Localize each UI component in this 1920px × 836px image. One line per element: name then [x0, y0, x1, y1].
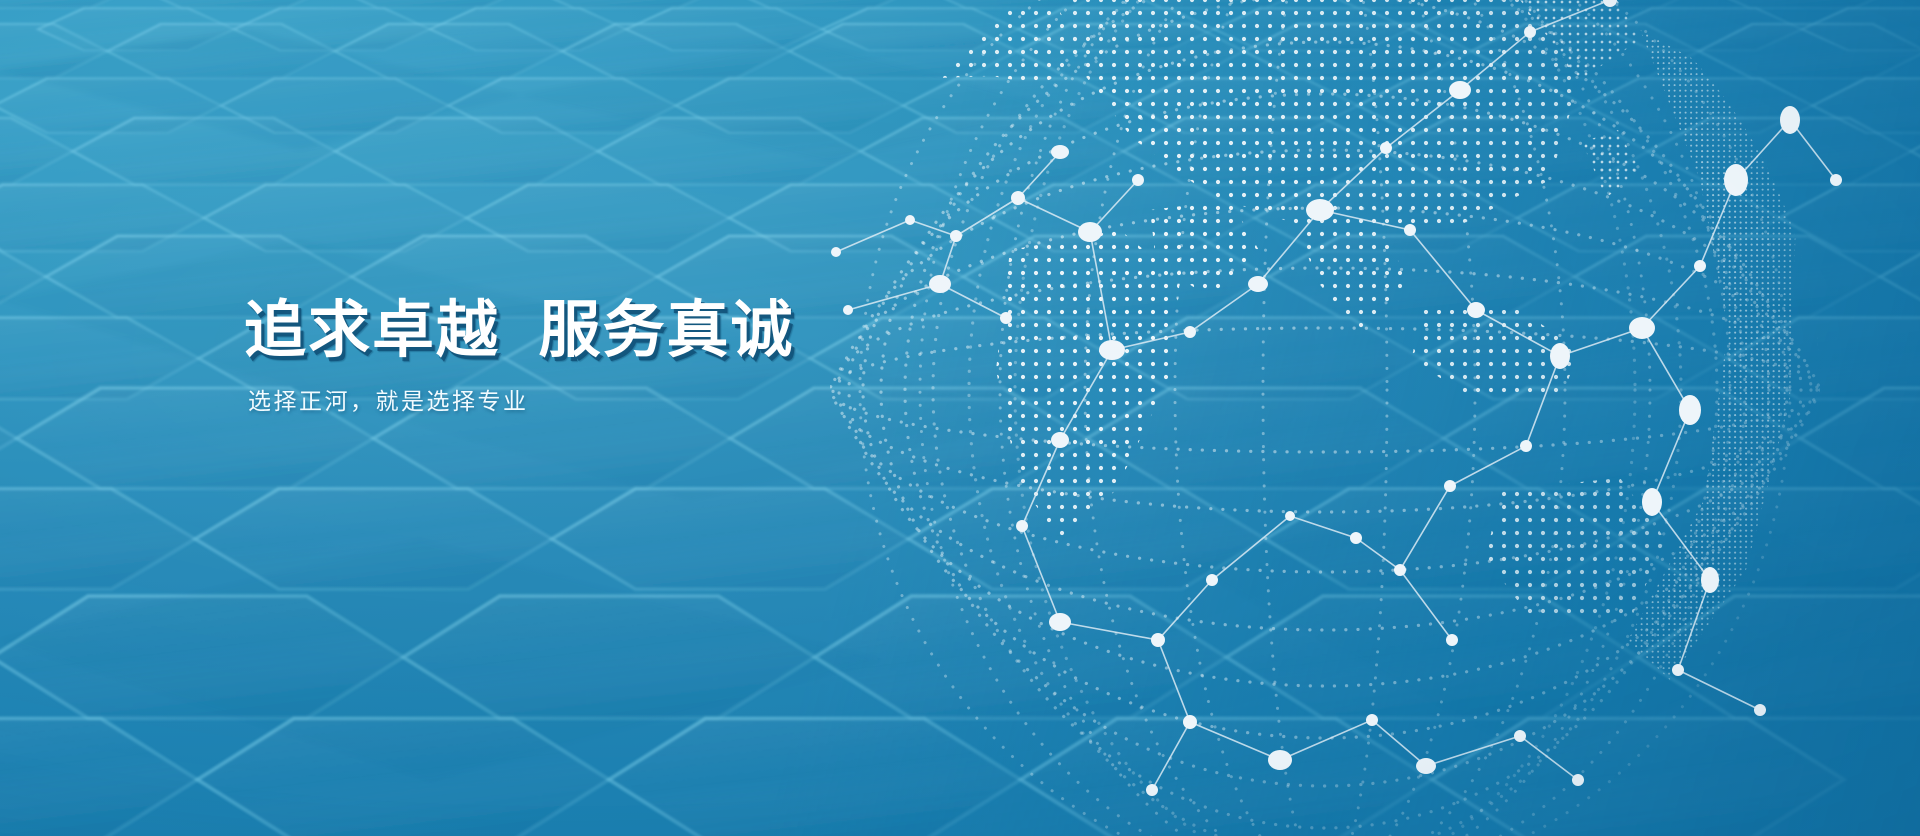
page-title: 追求卓越 服务真诚: [244, 296, 1004, 365]
hero-subtitle: 选择正河，就是选择专业: [248, 385, 1004, 417]
globe-network-icon: [760, 0, 1890, 836]
hero-copy: 追求卓越 服务真诚 选择正河，就是选择专业: [244, 296, 1004, 418]
hero-banner: 追求卓越 服务真诚 选择正河，就是选择专业: [0, 0, 1920, 836]
